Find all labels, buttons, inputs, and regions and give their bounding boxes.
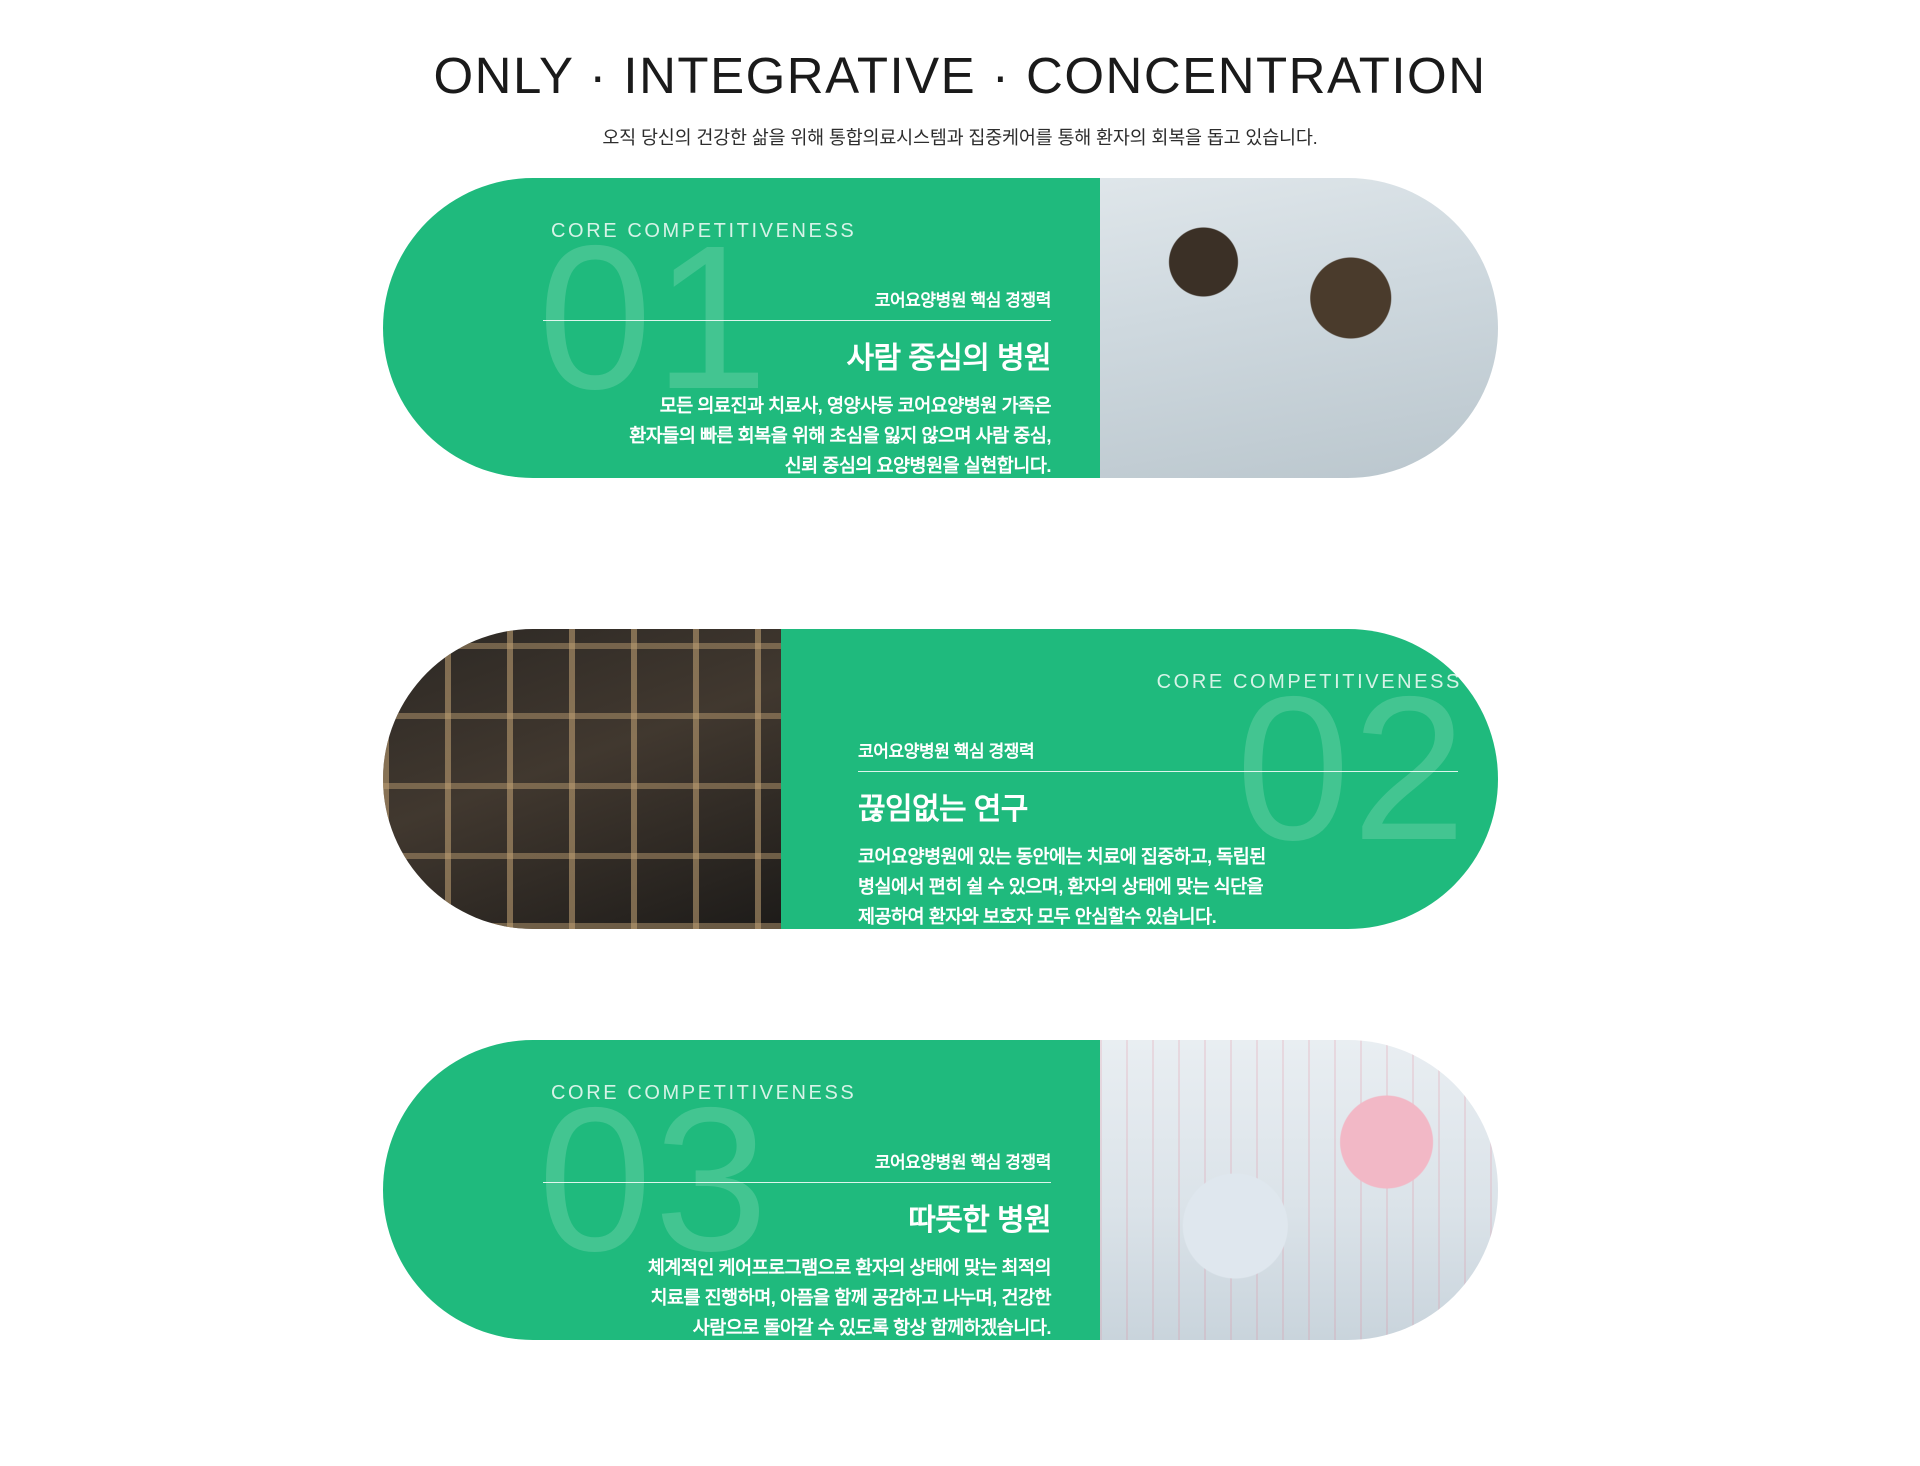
nurse-caring-for-bedridden-patient-photo — [1100, 1040, 1498, 1340]
card-03-divider — [543, 1182, 1051, 1183]
card-03-body: 체계적인 케어프로그램으로 환자의 상태에 맞는 최적의 치료를 진행하며, 아… — [543, 1253, 1051, 1340]
card-01-photo — [1100, 178, 1498, 478]
page-root: ONLY · INTEGRATIVE · CONCENTRATION 오직 당신… — [0, 0, 1920, 1466]
card-01-divider — [543, 320, 1051, 321]
page-header: ONLY · INTEGRATIVE · CONCENTRATION 오직 당신… — [0, 48, 1920, 150]
card-01-eyebrow: CORE COMPETITIVENESS — [551, 220, 856, 243]
card-02-eyebrow: CORE COMPETITIVENESS — [1157, 671, 1462, 694]
card-03-eyebrow: CORE COMPETITIVENESS — [551, 1082, 856, 1105]
card-02-body: 코어요양병원에 있는 동안에는 치료에 집중하고, 독립된 병실에서 편히 쉴 … — [858, 842, 1458, 929]
card-01-text-block: 코어요양병원 핵심 경쟁력 사람 중심의 병원 모든 의료진과 치료사, 영양사… — [543, 286, 1051, 478]
card-02-title: 끊임없는 연구 — [858, 784, 1458, 828]
two-doctors-at-laptop-photo — [383, 629, 781, 929]
page-subtitle: 오직 당신의 건강한 삶을 위해 통합의료시스템과 집중케어를 통해 환자의 회… — [0, 124, 1920, 150]
page-title: ONLY · INTEGRATIVE · CONCENTRATION — [0, 48, 1920, 104]
card-03-title: 따뜻한 병원 — [543, 1195, 1051, 1239]
competitiveness-card-02[interactable]: 02 CORE COMPETITIVENESS 코어요양병원 핵심 경쟁력 끊임… — [383, 629, 1498, 929]
card-03-photo — [1100, 1040, 1498, 1340]
card-01-body: 모든 의료진과 치료사, 영양사등 코어요양병원 가족은 환자들의 빠른 회복을… — [543, 391, 1051, 478]
card-02-kicker: 코어요양병원 핵심 경쟁력 — [858, 737, 1458, 771]
doctor-with-elderly-patient-photo — [1100, 178, 1498, 478]
card-02-photo — [383, 629, 781, 929]
card-03-kicker: 코어요양병원 핵심 경쟁력 — [543, 1148, 1051, 1182]
card-02-divider — [858, 771, 1458, 772]
card-03-text-block: 코어요양병원 핵심 경쟁력 따뜻한 병원 체계적인 케어프로그램으로 환자의 상… — [543, 1148, 1051, 1340]
card-01-title: 사람 중심의 병원 — [543, 333, 1051, 377]
card-02-text-block: 코어요양병원 핵심 경쟁력 끊임없는 연구 코어요양병원에 있는 동안에는 치료… — [858, 737, 1458, 929]
competitiveness-card-01[interactable]: 01 CORE COMPETITIVENESS 코어요양병원 핵심 경쟁력 사람… — [383, 178, 1498, 478]
competitiveness-card-03[interactable]: 03 CORE COMPETITIVENESS 코어요양병원 핵심 경쟁력 따뜻… — [383, 1040, 1498, 1340]
card-01-kicker: 코어요양병원 핵심 경쟁력 — [543, 286, 1051, 320]
